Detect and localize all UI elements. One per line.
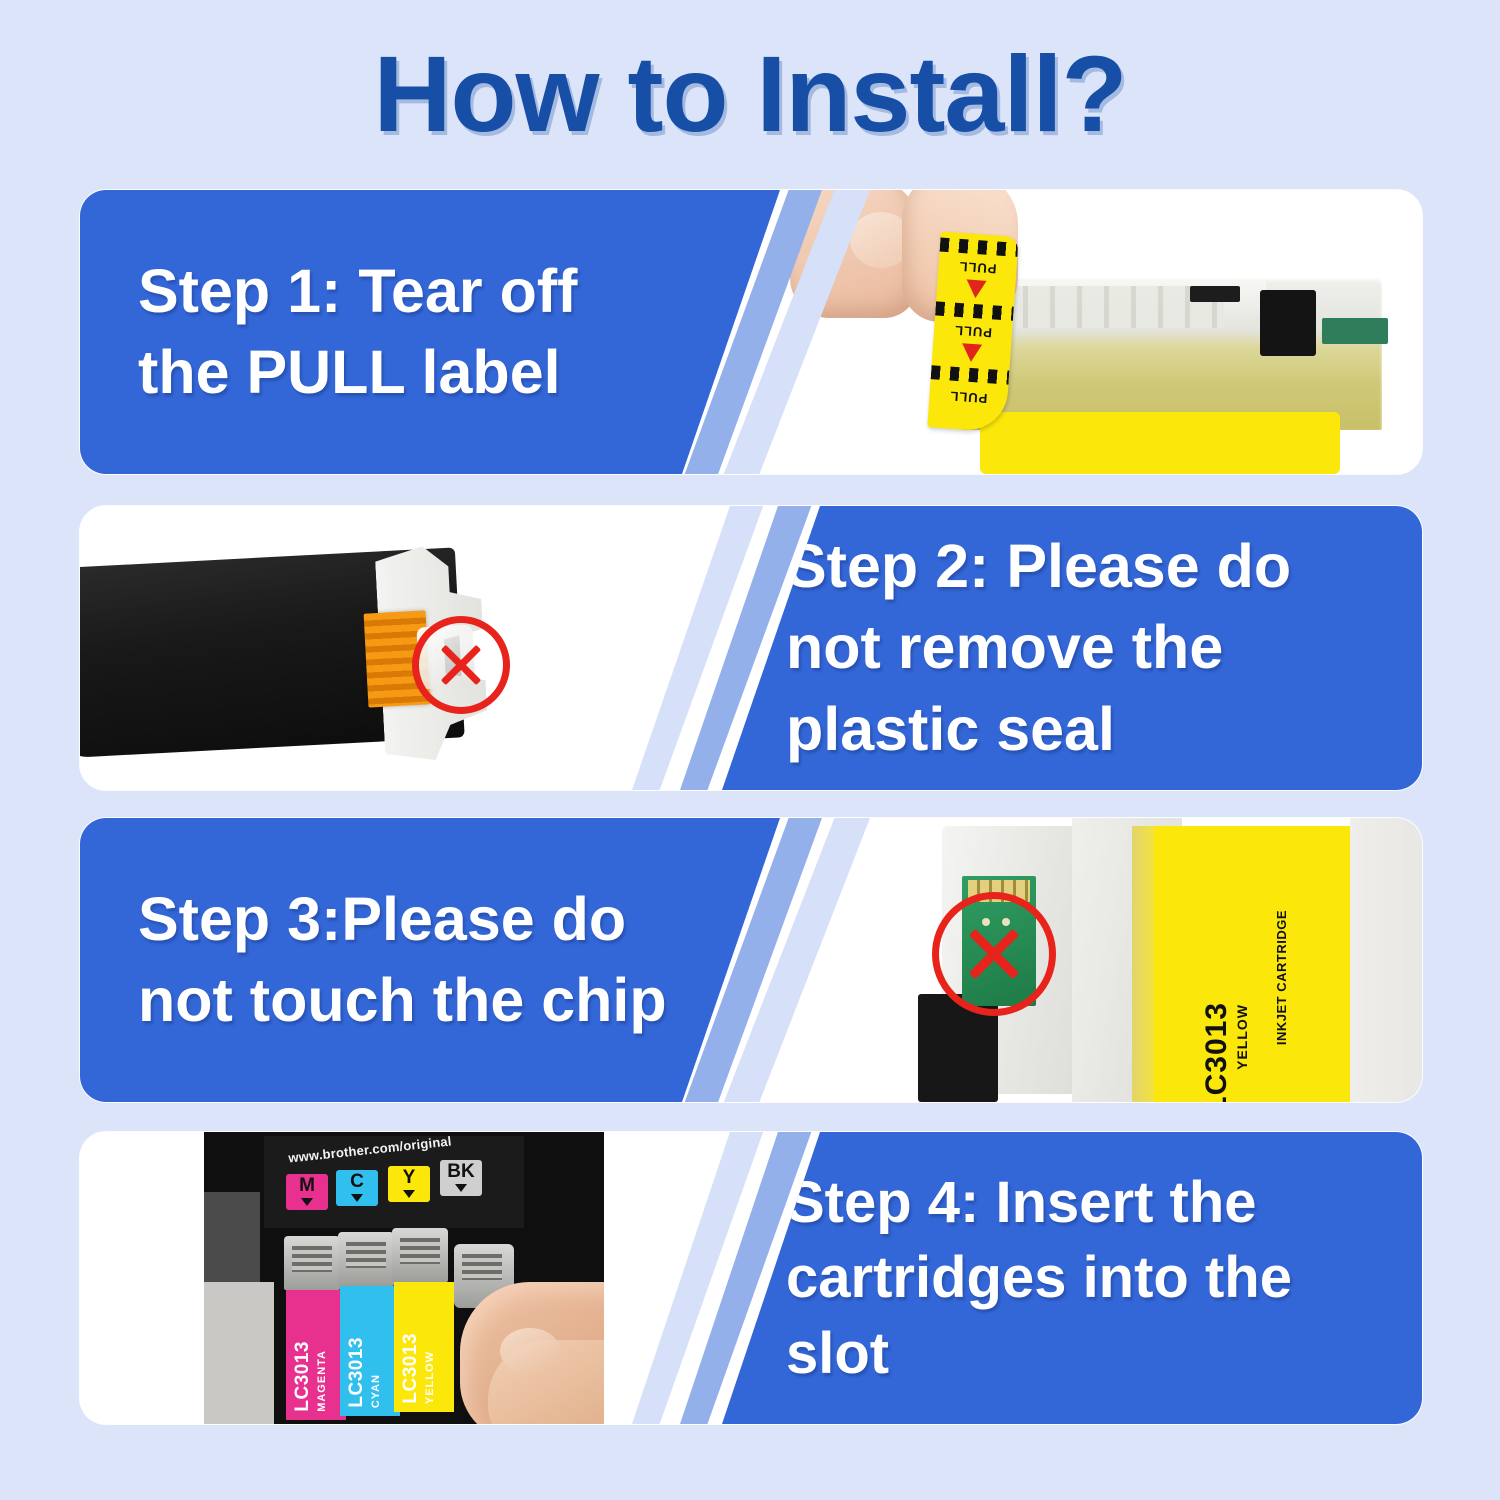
down-arrow-1: [965, 279, 986, 298]
pull-text-2: PULL: [934, 321, 1013, 341]
label-color-name: YELLOW: [1234, 1004, 1250, 1070]
step-2-line-2: not remove the: [786, 607, 1291, 688]
step-4-text: Step 4: Insert the cartridges into the s…: [786, 1165, 1292, 1391]
black-block: [1260, 290, 1316, 356]
slot-tab-black: BK: [440, 1160, 482, 1196]
step-2-line-3: plastic seal: [786, 689, 1291, 770]
step-1-text: Step 1: Tear off the PULL label: [138, 251, 577, 413]
cartridge-code-cyan: LC3013: [346, 1337, 368, 1408]
yellow-label-edge: [1132, 826, 1156, 1102]
chevron-down-icon: [351, 1194, 363, 1202]
plastic-seal-photo: [80, 506, 740, 790]
step-card-3: INKJET CARTRIDGE LC3013 YELLOW Step 3:Pl…: [80, 818, 1422, 1102]
pull-text-1: PULL: [938, 257, 1017, 277]
step-1-text-panel: Step 1: Tear off the PULL label: [80, 190, 780, 474]
yellow-label: [980, 412, 1340, 474]
step-card-4: www.brother.com/original M C Y BK: [80, 1132, 1422, 1424]
cartridge-grip-magenta: [284, 1236, 340, 1290]
slot-tab-magenta-label: M: [299, 1175, 315, 1196]
infographic-page: How to Install? PULL PULL: [0, 0, 1500, 1500]
cartridge-code-magenta: LC3013: [292, 1341, 314, 1412]
down-arrow-2: [961, 343, 982, 362]
slot-tab-magenta: M: [286, 1174, 328, 1210]
pull-tab: PULL PULL PULL: [927, 232, 1018, 433]
step-1-line-2: the PULL label: [138, 332, 577, 413]
cartridge-label-magenta: LC3013 MAGENTA: [286, 1290, 346, 1420]
red-circle-x-icon: [932, 892, 1056, 1016]
cartridge-grip-cyan: [338, 1232, 394, 1286]
chevron-down-icon: [301, 1198, 313, 1206]
slot-tab-cyan-label: C: [350, 1171, 364, 1192]
cartridge-code-yellow: LC3013: [400, 1333, 422, 1404]
fingernail: [500, 1328, 560, 1374]
chevron-down-icon: [455, 1184, 467, 1192]
label-inkjet-cartridge: INKJET CARTRIDGE: [1274, 910, 1290, 1045]
slot-tab-cyan: C: [336, 1170, 378, 1206]
hazard-chevrons: [940, 238, 1019, 257]
hazard-chevrons: [931, 365, 1010, 384]
printer-body-left-dark: [204, 1192, 260, 1288]
yellow-label-face: [1154, 826, 1354, 1102]
slot-tab-yellow: Y: [388, 1166, 430, 1202]
step-2-text: Step 2: Please do not remove the plastic…: [786, 526, 1291, 769]
chevron-down-icon: [403, 1190, 415, 1198]
cartridge-color-magenta: MAGENTA: [316, 1350, 328, 1412]
cartridge-label-yellow: LC3013 YELLOW: [394, 1282, 454, 1412]
step-4-line-1: Step 4: Insert the: [786, 1165, 1292, 1240]
step-card-2: Step 2: Please do not remove the plastic…: [80, 506, 1422, 790]
cartridge-color-yellow: YELLOW: [424, 1351, 436, 1404]
step-3-text: Step 3:Please do not touch the chip: [138, 879, 667, 1041]
slot-tab-yellow-label: Y: [403, 1167, 416, 1188]
printer-body-left-light: [204, 1282, 274, 1424]
cartridge-color-cyan: CYAN: [370, 1374, 382, 1408]
red-circle-x-icon: [412, 616, 510, 714]
step-2-text-panel: Step 2: Please do not remove the plastic…: [722, 506, 1422, 790]
step-3-line-2: not touch the chip: [138, 960, 667, 1041]
chip-photo: INKJET CARTRIDGE LC3013 YELLOW: [762, 818, 1422, 1102]
hazard-chevrons: [935, 301, 1014, 320]
step-3-text-panel: Step 3:Please do not touch the chip: [80, 818, 780, 1102]
page-title: How to Install?: [0, 40, 1500, 148]
step-3-line-1: Step 3:Please do: [138, 879, 667, 960]
slot-tab-black-label: BK: [447, 1161, 474, 1182]
printer-carriage: www.brother.com/original M C Y BK: [204, 1132, 604, 1424]
step-card-1: PULL PULL PULL Step 1: Tear off the PULL…: [80, 190, 1422, 474]
insert-cartridges-photo: www.brother.com/original M C Y BK: [80, 1132, 740, 1424]
step-4-text-panel: Step 4: Insert the cartridges into the s…: [722, 1132, 1422, 1424]
black-clip: [1190, 286, 1240, 302]
cartridge-right-shell: [1350, 818, 1422, 1102]
chip-photo-inner: INKJET CARTRIDGE LC3013 YELLOW: [882, 818, 1422, 1102]
chip-edge: [1322, 318, 1388, 344]
step-4-line-3: slot: [786, 1316, 1292, 1391]
step-2-line-1: Step 2: Please do: [786, 526, 1291, 607]
step-4-line-2: cartridges into the: [786, 1240, 1292, 1315]
pull-text-3: PULL: [929, 387, 1008, 407]
cartridge-grip-yellow: [392, 1228, 448, 1282]
step-1-line-1: Step 1: Tear off: [138, 251, 577, 332]
pull-tab-photo: PULL PULL PULL: [762, 190, 1422, 474]
label-model-code: LC3013: [1200, 1002, 1234, 1102]
cartridge-label-cyan: LC3013 CYAN: [340, 1286, 400, 1416]
